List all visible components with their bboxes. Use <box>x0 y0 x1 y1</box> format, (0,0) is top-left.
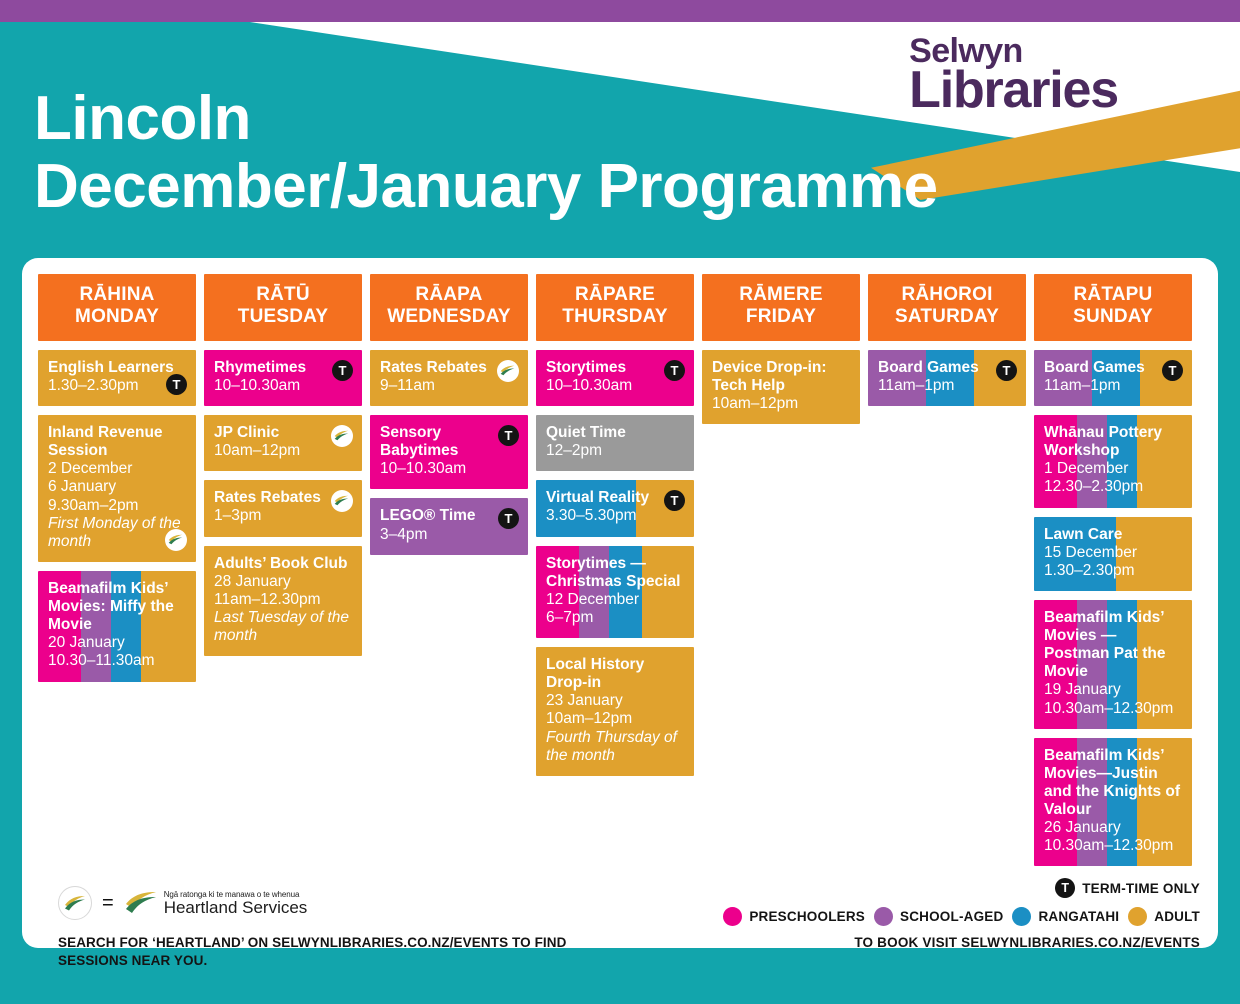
booking-instruction: TO BOOK VISIT SELWYNLIBRARIES.CO.NZ/EVEN… <box>723 935 1200 950</box>
event-detail-line: 1–3pm <box>214 507 352 525</box>
event-detail-line: 6 January <box>48 478 186 496</box>
event-body: Rates Rebates1–3pm <box>214 489 352 525</box>
event-body: Adults’ Book Club28 January11am–12.30pmL… <box>214 555 352 646</box>
title-programme: December/January Programme <box>34 156 938 218</box>
term-time-icon: T <box>996 360 1017 381</box>
term-time-icon: T <box>166 374 187 395</box>
programme-card: RĀHINAMONDAYEnglish Learners1.30–2.30pmT… <box>22 258 1218 948</box>
event-body: Rhymetimes10–10.30am <box>214 359 352 395</box>
event-detail-line: 11am–1pm <box>878 377 1016 395</box>
week-grid: RĀHINAMONDAYEnglish Learners1.30–2.30pmT… <box>38 274 1202 875</box>
legend-item: ADULT <box>1128 907 1200 926</box>
legend-item: RANGATAHI <box>1012 907 1119 926</box>
event-title: Beamafilm Kids’ Movies—Justin and the Kn… <box>1044 747 1182 820</box>
event-detail-line: 3–4pm <box>380 526 518 544</box>
event-detail-line: 9–11am <box>380 377 518 395</box>
heartland-swoosh-icon <box>168 534 183 545</box>
event-body: Quiet Time12–2pm <box>546 424 684 460</box>
event-card[interactable]: Adults’ Book Club28 January11am–12.30pmL… <box>204 546 362 657</box>
legend-label: SCHOOL-AGED <box>900 909 1003 924</box>
day-column-saturday: RĀHOROISATURDAYBoard Games11am–1pmT <box>868 274 1026 415</box>
equals-sign: = <box>102 892 114 915</box>
term-time-icon: T <box>498 425 519 446</box>
legend-item: SCHOOL-AGED <box>874 907 1003 926</box>
event-detail-line: 10–10.30am <box>214 377 352 395</box>
term-time-icon: T <box>1162 360 1183 381</box>
event-detail-line: 10–10.30am <box>380 460 518 478</box>
day-header-monday: RĀHINAMONDAY <box>38 274 196 341</box>
event-detail-line: 15 December <box>1044 544 1182 562</box>
event-frequency-note: First Monday of the month <box>48 515 186 551</box>
event-title: Device Drop-in: Tech Help <box>712 359 850 395</box>
event-title: Storytimes — Christmas Special <box>546 555 684 591</box>
legend-colour-dot <box>1128 907 1147 926</box>
event-detail-line: 10.30am–12.30pm <box>1044 700 1182 718</box>
event-title: Sensory Babytimes <box>380 424 518 460</box>
heartland-services-icon <box>331 425 353 447</box>
heartland-swoosh-icon <box>334 495 349 506</box>
footer-legend-block: T TERM-TIME ONLY PRESCHOOLERSSCHOOL-AGED… <box>723 878 1200 950</box>
event-title: Local History Drop-in <box>546 656 684 692</box>
day-name-maori: RĀAPA <box>374 284 524 306</box>
event-detail-line: 20 January <box>48 634 186 652</box>
legend-label: PRESCHOOLERS <box>749 909 865 924</box>
event-title: English Learners <box>48 359 186 377</box>
day-name-english: MONDAY <box>42 306 192 328</box>
event-detail-line: 2 December <box>48 460 186 478</box>
event-card[interactable]: Device Drop-in: Tech Help10am–12pm <box>702 350 860 424</box>
legend-colour-dot <box>723 907 742 926</box>
event-card[interactable]: Virtual Reality3.30–5.30pmT <box>536 480 694 536</box>
heartland-swoosh-large-icon <box>124 891 158 915</box>
heartland-services-icon <box>165 529 187 551</box>
event-body: Beamafilm Kids’ Movies—Justin and the Kn… <box>1044 747 1182 856</box>
heartland-text: Ngā ratonga ki te manawa o te whenua Hea… <box>164 891 308 916</box>
day-column-sunday: RĀTAPUSUNDAYBoard Games11am–1pmTWhānau P… <box>1034 274 1192 875</box>
day-header-sunday: RĀTAPUSUNDAY <box>1034 274 1192 341</box>
day-column-friday: RĀMEREFRIDAYDevice Drop-in: Tech Help10a… <box>702 274 860 433</box>
event-detail-line: 10.30–11.30am <box>48 652 186 670</box>
event-body: Rates Rebates9–11am <box>380 359 518 395</box>
selwyn-libraries-logo: Selwyn Libraries <box>909 36 1118 115</box>
event-detail-line: 6–7pm <box>546 609 684 627</box>
event-body: English Learners1.30–2.30pm <box>48 359 186 395</box>
event-detail-line: 12.30–2.30pm <box>1044 478 1182 496</box>
event-title: Beamafilm Kids’ Movies: Miffy the Movie <box>48 580 186 634</box>
legend-colour-dot <box>1012 907 1031 926</box>
event-card[interactable]: English Learners1.30–2.30pmT <box>38 350 196 406</box>
heartland-icon-circle <box>58 886 92 920</box>
footer-heartland-block: = Ngā ratonga ki te manawa o te whenua H… <box>58 886 618 970</box>
event-card[interactable]: Beamafilm Kids’ Movies: Miffy the Movie2… <box>38 571 196 682</box>
term-time-icon: T <box>664 360 685 381</box>
title-location: Lincoln <box>34 88 938 150</box>
event-card[interactable]: Board Games11am–1pmT <box>1034 350 1192 406</box>
day-name-maori: RĀMERE <box>706 284 856 306</box>
event-card[interactable]: Local History Drop-in23 January10am–12pm… <box>536 647 694 776</box>
event-detail-line: 12–2pm <box>546 442 684 460</box>
event-detail-line: 23 January <box>546 692 684 710</box>
day-name-english: THURSDAY <box>540 306 690 328</box>
event-detail-line: 12 December <box>546 591 684 609</box>
event-title: Beamafilm Kids’ Movies — Postman Pat the… <box>1044 609 1182 682</box>
event-detail-line: 10am–12pm <box>546 710 684 728</box>
event-card[interactable]: Storytimes10–10.30amT <box>536 350 694 406</box>
event-detail-line: 9.30am–2pm <box>48 497 186 515</box>
event-detail-line: 19 January <box>1044 681 1182 699</box>
day-name-maori: RĀTAPU <box>1038 284 1188 306</box>
day-header-wednesday: RĀAPAWEDNESDAY <box>370 274 528 341</box>
heartland-swoosh-icon <box>334 430 349 441</box>
day-name-english: SATURDAY <box>872 306 1022 328</box>
event-title: Inland Revenue Session <box>48 424 186 460</box>
event-card[interactable]: Sensory Babytimes10–10.30amT <box>370 415 528 489</box>
term-time-legend: T TERM-TIME ONLY <box>723 878 1200 898</box>
legend-label: RANGATAHI <box>1038 909 1119 924</box>
heartland-name: Heartland Services <box>164 899 308 916</box>
event-body: Beamafilm Kids’ Movies — Postman Pat the… <box>1044 609 1182 718</box>
event-detail-line: 1.30–2.30pm <box>1044 562 1182 580</box>
event-card[interactable]: Board Games11am–1pmT <box>868 350 1026 406</box>
day-name-maori: RĀHOROI <box>872 284 1022 306</box>
event-card[interactable]: Storytimes — Christmas Special12 Decembe… <box>536 546 694 639</box>
legend-item: PRESCHOOLERS <box>723 907 865 926</box>
poster-root: Lincoln December/January Programme Selwy… <box>0 0 1240 1004</box>
day-header-saturday: RĀHOROISATURDAY <box>868 274 1026 341</box>
event-detail-line: 10.30am–12.30pm <box>1044 837 1182 855</box>
event-body: Storytimes10–10.30am <box>546 359 684 395</box>
day-name-maori: RĀTŪ <box>208 284 358 306</box>
event-card[interactable]: JP Clinic10am–12pm <box>204 415 362 471</box>
day-column-monday: RĀHINAMONDAYEnglish Learners1.30–2.30pmT… <box>38 274 196 691</box>
event-detail-line: 1 December <box>1044 460 1182 478</box>
day-header-tuesday: RĀTŪTUESDAY <box>204 274 362 341</box>
event-frequency-note: Fourth Thursday of the month <box>546 729 684 765</box>
search-instruction: SEARCH FOR ‘HEARTLAND’ ON SELWYNLIBRARIE… <box>58 934 618 970</box>
event-detail-line: 10am–12pm <box>712 395 850 413</box>
event-body: Board Games11am–1pm <box>878 359 1016 395</box>
event-card[interactable]: Quiet Time12–2pm <box>536 415 694 471</box>
heartland-swoosh-icon <box>500 365 515 376</box>
term-time-icon: T <box>1055 878 1075 898</box>
event-card[interactable]: Beamafilm Kids’ Movies — Postman Pat the… <box>1034 600 1192 729</box>
day-name-maori: RĀPARE <box>540 284 690 306</box>
event-body: LEGO® Time3–4pm <box>380 507 518 543</box>
day-column-thursday: RĀPARETHURSDAYStorytimes10–10.30amTQuiet… <box>536 274 694 785</box>
event-card[interactable]: Lawn Care15 December1.30–2.30pm <box>1034 517 1192 591</box>
event-card[interactable]: Rates Rebates1–3pm <box>204 480 362 536</box>
event-body: Board Games11am–1pm <box>1044 359 1182 395</box>
day-name-english: WEDNESDAY <box>374 306 524 328</box>
audience-legend: PRESCHOOLERSSCHOOL-AGEDRANGATAHIADULT <box>723 907 1200 926</box>
legend-colour-dot <box>874 907 893 926</box>
event-detail-line: 26 January <box>1044 819 1182 837</box>
day-name-english: SUNDAY <box>1038 306 1188 328</box>
day-header-friday: RĀMEREFRIDAY <box>702 274 860 341</box>
heartland-key-row: = Ngā ratonga ki te manawa o te whenua H… <box>58 886 618 920</box>
day-name-english: TUESDAY <box>208 306 358 328</box>
event-body: Device Drop-in: Tech Help10am–12pm <box>712 359 850 413</box>
event-title: Quiet Time <box>546 424 684 442</box>
day-name-english: FRIDAY <box>706 306 856 328</box>
event-title: Lawn Care <box>1044 526 1182 544</box>
event-body: JP Clinic10am–12pm <box>214 424 352 460</box>
event-card[interactable]: LEGO® Time3–4pmT <box>370 498 528 554</box>
legend-label: ADULT <box>1154 909 1200 924</box>
term-time-icon: T <box>332 360 353 381</box>
event-card[interactable]: Rhymetimes10–10.30amT <box>204 350 362 406</box>
event-detail-line: 10am–12pm <box>214 442 352 460</box>
event-frequency-note: Last Tuesday of the month <box>214 609 352 645</box>
event-title: Whānau Pottery Workshop <box>1044 424 1182 460</box>
event-body: Beamafilm Kids’ Movies: Miffy the Movie2… <box>48 580 186 671</box>
event-title: Adults’ Book Club <box>214 555 352 573</box>
event-card[interactable]: Rates Rebates9–11am <box>370 350 528 406</box>
event-detail-line: 11am–1pm <box>1044 377 1182 395</box>
day-name-maori: RĀHINA <box>42 284 192 306</box>
event-card[interactable]: Whānau Pottery Workshop1 December12.30–2… <box>1034 415 1192 508</box>
day-column-tuesday: RĀTŪTUESDAYRhymetimes10–10.30amTJP Clini… <box>204 274 362 665</box>
event-body: Whānau Pottery Workshop1 December12.30–2… <box>1044 424 1182 497</box>
event-body: Virtual Reality3.30–5.30pm <box>546 489 684 525</box>
brand-libraries: Libraries <box>909 67 1118 115</box>
top-purple-bar <box>0 0 1240 22</box>
event-card[interactable]: Beamafilm Kids’ Movies—Justin and the Kn… <box>1034 738 1192 867</box>
heartland-services-icon <box>497 360 519 382</box>
heartland-services-logo: Ngā ratonga ki te manawa o te whenua Hea… <box>124 891 308 916</box>
event-body: Local History Drop-in23 January10am–12pm… <box>546 656 684 765</box>
event-card[interactable]: Inland Revenue Session2 December6 Januar… <box>38 415 196 562</box>
heartland-swoosh-icon <box>64 895 86 911</box>
page-title: Lincoln December/January Programme <box>34 88 938 218</box>
day-header-thursday: RĀPARETHURSDAY <box>536 274 694 341</box>
term-time-label: TERM-TIME ONLY <box>1082 881 1200 896</box>
event-detail-line: 11am–12.30pm <box>214 591 352 609</box>
day-column-wednesday: RĀAPAWEDNESDAYRates Rebates9–11amSensory… <box>370 274 528 564</box>
event-body: Inland Revenue Session2 December6 Januar… <box>48 424 186 551</box>
event-detail-line: 28 January <box>214 573 352 591</box>
event-detail-line: 3.30–5.30pm <box>546 507 684 525</box>
event-body: Lawn Care15 December1.30–2.30pm <box>1044 526 1182 580</box>
event-detail-line: 10–10.30am <box>546 377 684 395</box>
event-body: Storytimes — Christmas Special12 Decembe… <box>546 555 684 628</box>
